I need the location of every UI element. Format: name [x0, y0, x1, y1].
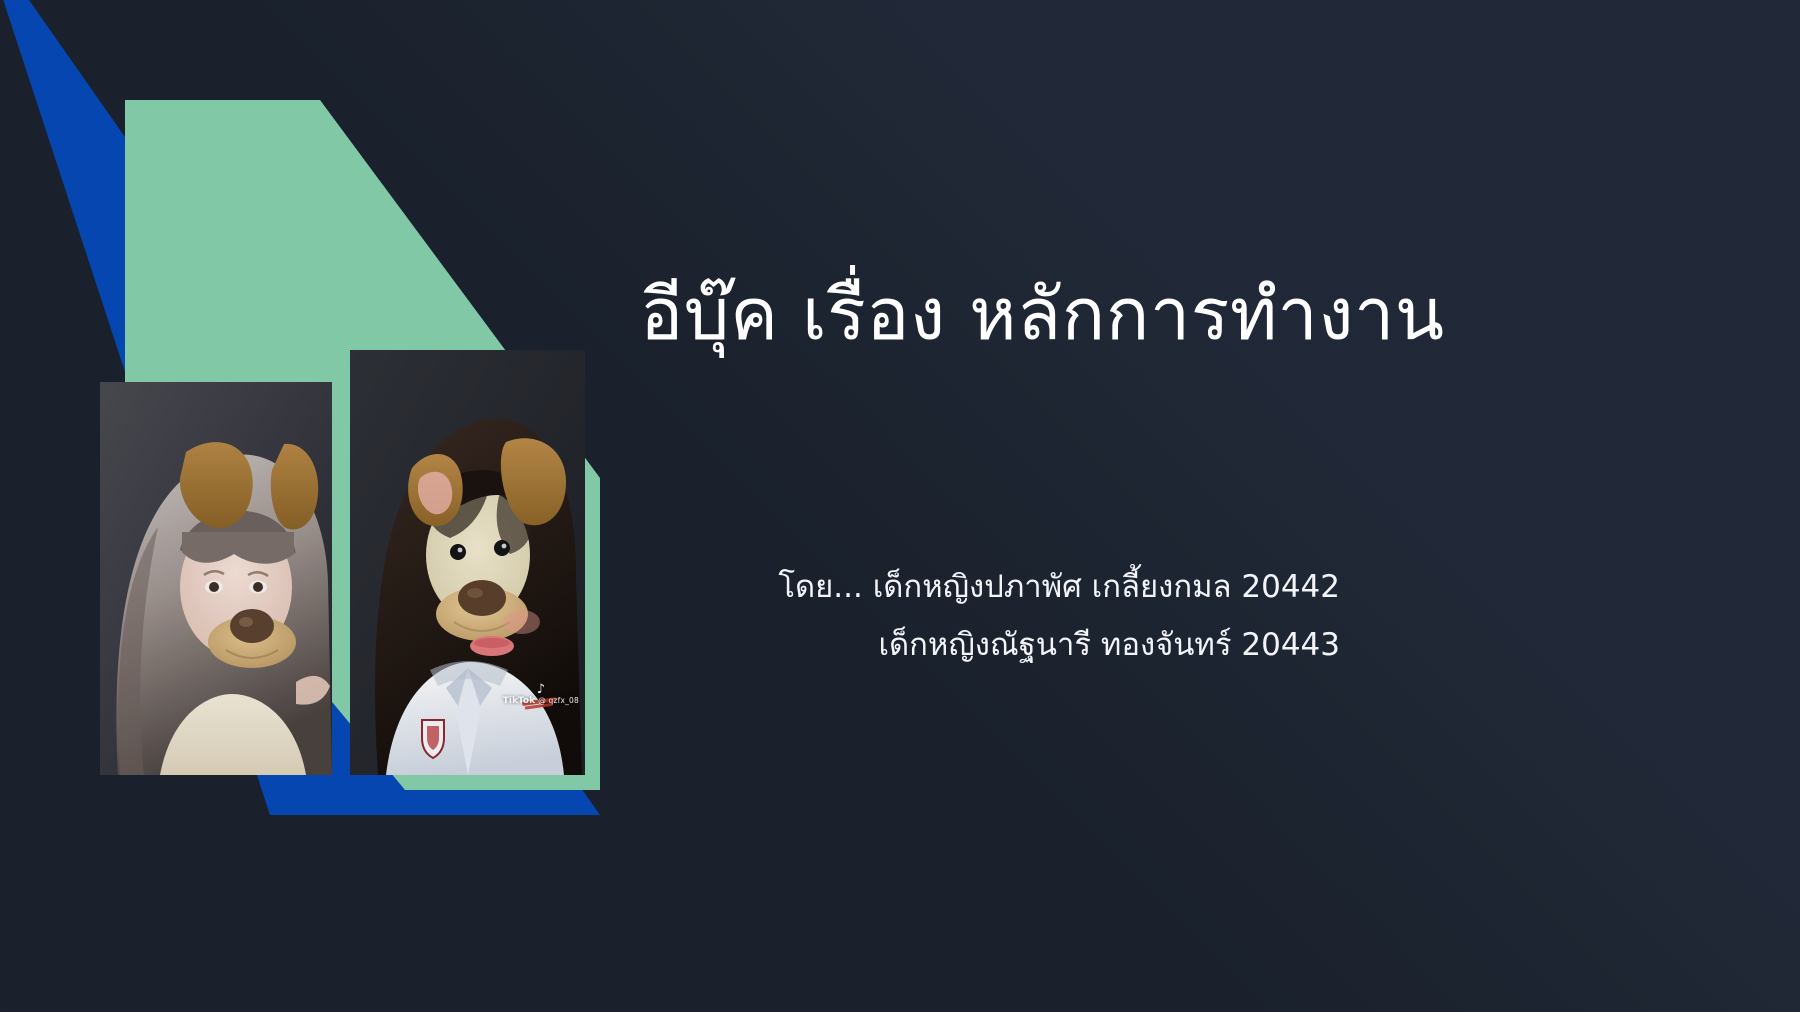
author-line-2: เด็กหญิงณัฐนารี ทองจันทร์ 20443	[640, 616, 1340, 674]
photo-right: ♪ TikTok @ qzfx_08	[350, 350, 585, 775]
slide-canvas: ♪ TikTok @ qzfx_08 อีบุ๊ค เรื่อง หลักการ…	[0, 0, 1800, 1012]
slide-title: อีบุ๊ค เรื่อง หลักการทำงาน	[640, 272, 1730, 357]
author-block: โดย... เด็กหญิงปภาพัศ เกลี้ยงกมล 20442 เ…	[640, 558, 1340, 675]
photo-left	[100, 382, 332, 775]
photo-right-image	[350, 350, 585, 775]
photo-left-image	[100, 382, 332, 775]
author-line-1: โดย... เด็กหญิงปภาพัศ เกลี้ยงกมล 20442	[640, 558, 1340, 616]
